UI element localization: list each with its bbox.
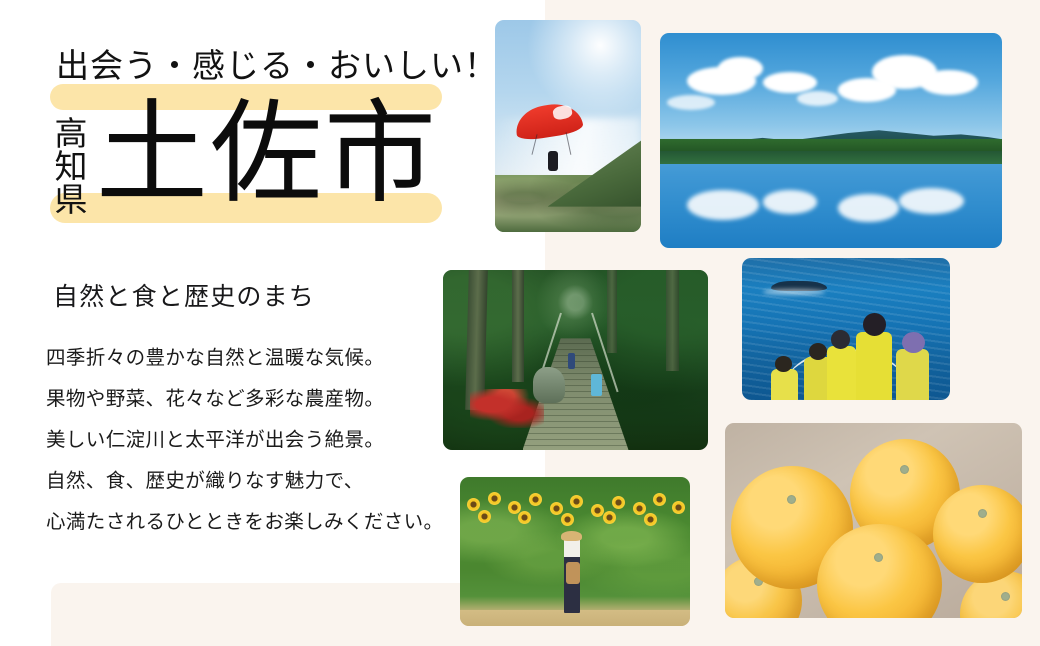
tagline-text: 出会う・感じる・おいしい！: [56, 48, 498, 88]
niyodo-river-reflection-photo: [660, 33, 1002, 248]
description-line: 心満たされるひとときをお楽しみください。: [46, 502, 466, 543]
description-line: 四季折々の豊かな自然と温暖な気候。: [46, 338, 466, 379]
prefecture-label: 高知県: [48, 116, 85, 231]
subtitle-text: 自然と食と歴史のまち: [53, 277, 315, 313]
description-line: 果物や野菜、花々など多彩な農産物。: [46, 379, 466, 420]
title-block: 高知県 土佐市: [48, 110, 458, 240]
description-line: 美しい仁淀川と太平洋が出会う絶景。: [46, 420, 466, 461]
description-line: 自然、食、歴史が織りなす魅力で、: [46, 461, 466, 502]
forest-suspension-bridge-photo: [443, 270, 708, 450]
citrus-oranges-photo: [725, 423, 1022, 618]
whale-watching-boat-photo: [742, 258, 950, 400]
city-name-title: 土佐市: [96, 96, 438, 214]
sunflower-field-photo: [460, 477, 690, 626]
description-paragraph: 四季折々の豊かな自然と温暖な気候。 果物や野菜、花々など多彩な農産物。 美しい仁…: [46, 338, 466, 543]
paragliding-over-valley-photo: [495, 20, 641, 232]
